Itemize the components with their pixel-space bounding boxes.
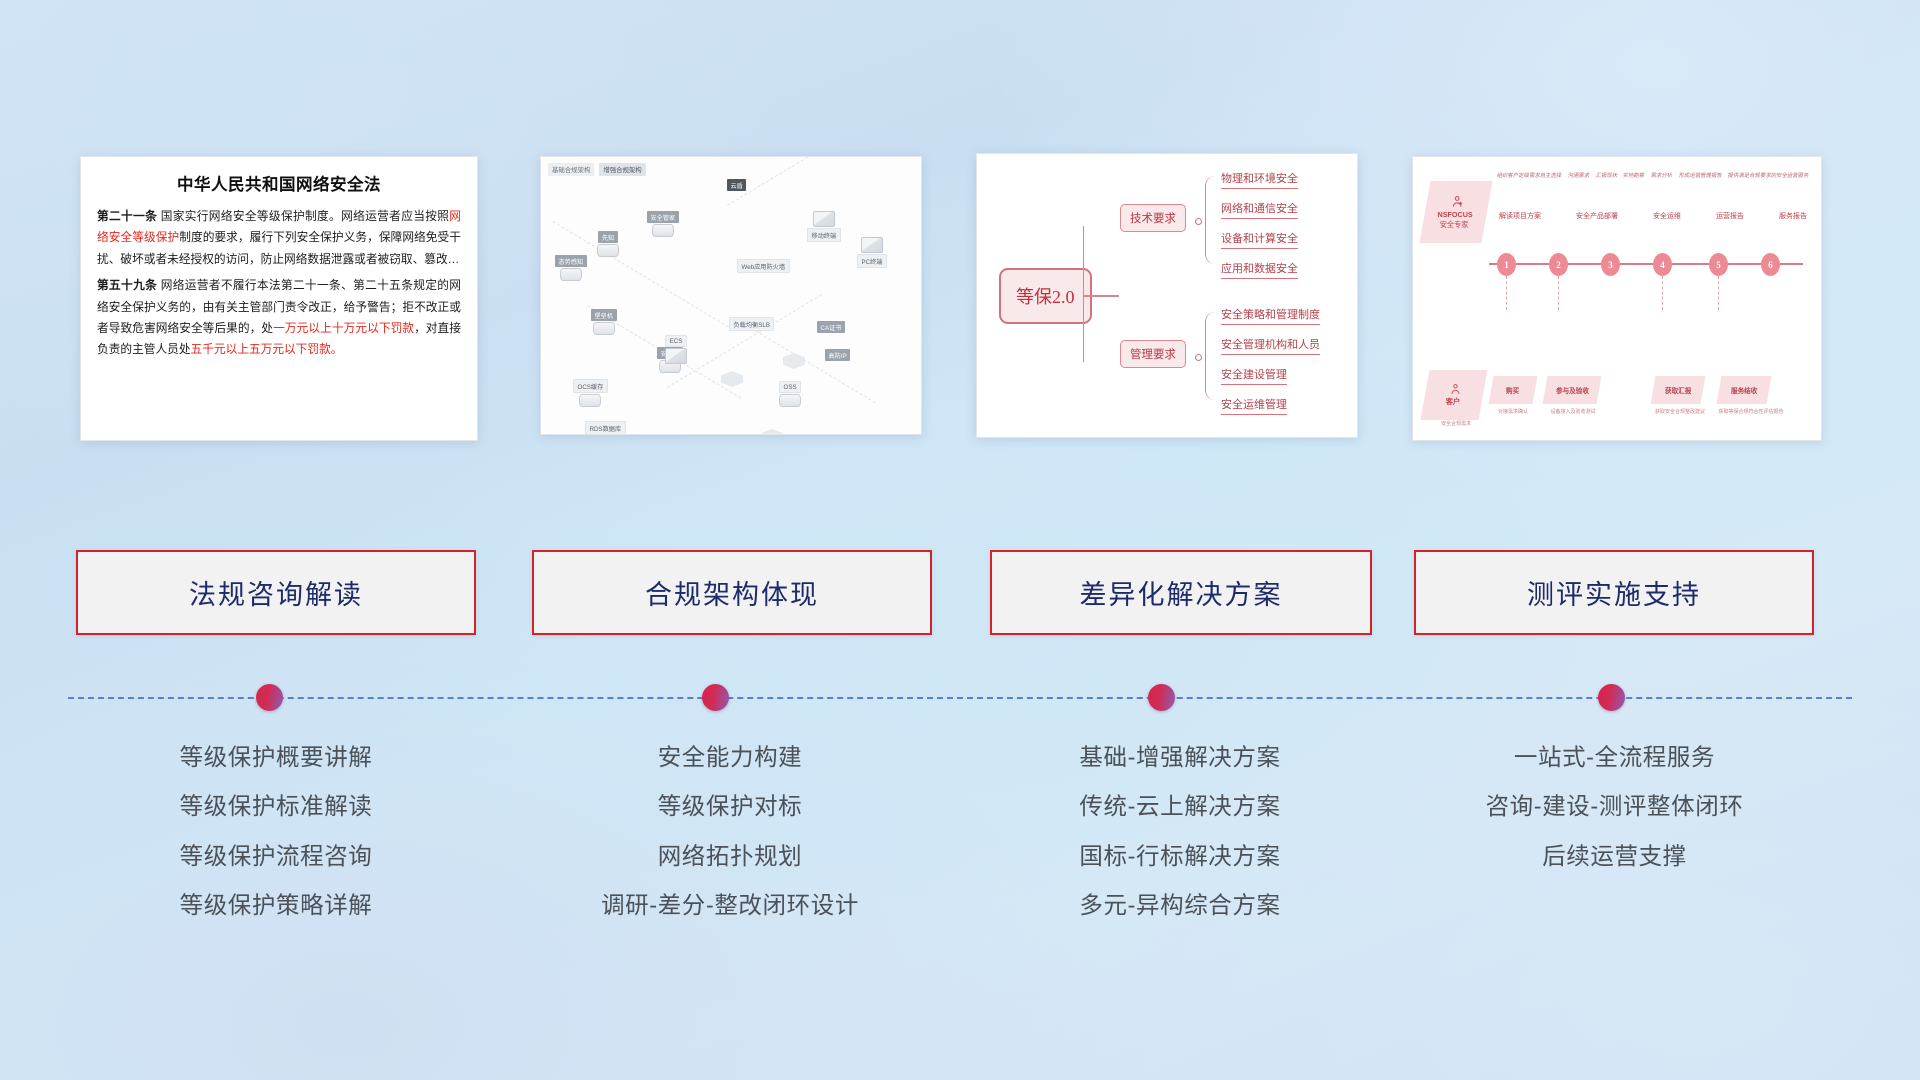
- list-item: 国标-行标解决方案: [980, 839, 1380, 874]
- list-item: 调研-差分-整改闭环设计: [530, 888, 930, 923]
- footer-item-label: 购买: [1506, 385, 1519, 395]
- arch-node-xianzhi: 先知: [597, 231, 619, 257]
- footer-item-caption: 设备接入及验收测试: [1539, 408, 1607, 415]
- mindmap-leaf: 设备和计算安全: [1221, 230, 1298, 249]
- mindmap-connector: [1205, 312, 1219, 400]
- mindmap-leaf: 应用和数据安全: [1221, 260, 1298, 279]
- card-mindmap-screenshot: 等保2.0 技术要求 物理和环境安全 网络和通信安全 设备和计算安全 应用和数据…: [976, 153, 1358, 438]
- arch-node-ecs-group: [721, 371, 743, 387]
- footer-item-box: 获取汇报: [1651, 376, 1706, 404]
- phase-label: 安全产品部署: [1576, 211, 1618, 221]
- banner-compliance-architecture[interactable]: 合规架构体现: [532, 550, 932, 635]
- mindmap-leaf: 安全策略和管理制度: [1221, 306, 1320, 325]
- nsfocus-tick: [1506, 276, 1507, 310]
- banner-assessment-support[interactable]: 测评实施支持: [1414, 550, 1814, 635]
- timeline-dashed-line: [68, 697, 1852, 699]
- mindmap-connector: [1083, 296, 1119, 362]
- architecture-diagram: 基础合规架构 增强合规架构 云盾 安全管家 先知 态势感知: [541, 157, 921, 434]
- arch-node-ecs: ECS: [665, 335, 687, 364]
- article-59-highlight-2: 五千元以上五万元以下罚款。: [191, 343, 343, 356]
- list-item: 一站式-全流程服务: [1412, 740, 1817, 775]
- nsfocus-step: 5: [1709, 253, 1728, 276]
- arch-node-pc: PC终端: [857, 237, 887, 268]
- list-item: 传统-云上解决方案: [980, 789, 1380, 824]
- banner-label: 差异化解决方案: [1080, 573, 1283, 612]
- mindmap-root: 等保2.0: [999, 268, 1092, 324]
- list-regulation-consulting: 等级保护概要讲解 等级保护标准解读 等级保护流程咨询 等级保护策略详解: [76, 740, 476, 923]
- timeline-dot-1[interactable]: [256, 684, 283, 711]
- nsfocus-step: 4: [1653, 253, 1672, 276]
- arch-node-oss: OSS: [779, 381, 801, 407]
- arch-node-ecs-group: [783, 353, 805, 369]
- article-21-label: 第二十一条: [97, 210, 157, 223]
- guide-line: [727, 156, 890, 206]
- nsfocus-tick: [1662, 276, 1663, 310]
- list-compliance-architecture: 安全能力构建 等级保护对标 网络拓扑规划 调研-差分-整改闭环设计: [530, 740, 930, 923]
- list-item: 等级保护策略详解: [76, 888, 476, 923]
- footer-item-label: 获取汇报: [1665, 385, 1691, 395]
- nsfocus-service-flow: NSFOCUS 安全专家 组织客户定级需求自主选择 沟通需求 汇报现状 实地勘察…: [1413, 157, 1821, 440]
- footer-item-box: 购买: [1489, 376, 1538, 404]
- law-document: 中华人民共和国网络安全法 第二十一条 国家实行网络安全等级保护制度。网络运营者应…: [81, 157, 477, 376]
- nsfocus-step: 3: [1601, 253, 1620, 276]
- top-caption: 实地勘察: [1623, 171, 1646, 179]
- article-59-highlight-1: 一万元以上十万元以下罚款: [273, 322, 414, 335]
- nsfocus-step: 1: [1497, 253, 1516, 276]
- mindmap-leaf: 物理和环境安全: [1221, 170, 1298, 189]
- law-article-59: 第五十九条 网络运营者不履行本法第二十一条、第二十五条规定的网络安全保护义务的，…: [97, 275, 461, 361]
- mindmap-collapse-dot[interactable]: [1195, 218, 1202, 225]
- nsfocus-phase-labels: 解读项目方案 安全产品部署 安全运维 运营报告 服务报告: [1499, 211, 1807, 221]
- list-assessment-support: 一站式-全流程服务 咨询-建设-测评整体闭环 后续运营支撑: [1412, 740, 1817, 874]
- banner-label: 测评实施支持: [1527, 573, 1701, 612]
- list-item: 多元-异构综合方案: [980, 888, 1380, 923]
- footer-item-box: 服务结收: [1717, 376, 1772, 404]
- footer-item-caption: 获取安全合规整改建议: [1643, 408, 1717, 415]
- nsfocus-step: 6: [1761, 253, 1780, 276]
- card-nsfocus-screenshot: NSFOCUS 安全专家 组织客户定级需求自主选择 沟通需求 汇报现状 实地勘察…: [1412, 156, 1822, 441]
- mindmap-branch-technical: 技术要求: [1120, 204, 1186, 232]
- arch-node-mobile: 移动终端: [807, 211, 841, 242]
- nsfocus-badge-role: 安全专家: [1439, 220, 1468, 230]
- arch-node-slb: 负载均衡SLB: [729, 317, 774, 331]
- arch-node-vpc: VPC: [761, 429, 783, 435]
- list-item: 网络拓扑规划: [530, 839, 930, 874]
- banner-label: 合规架构体现: [645, 573, 819, 612]
- nsfocus-tick: [1558, 276, 1559, 310]
- list-item: 咨询-建设-测评整体闭环: [1412, 789, 1817, 824]
- timeline-dot-2[interactable]: [702, 684, 729, 711]
- nsfocus-top-captions: 组织客户定级需求自主选择 沟通需求 汇报现状 实地勘察 需求分析 形成运营管理报…: [1497, 171, 1809, 179]
- list-item: 等级保护对标: [530, 789, 930, 824]
- article-59-label: 第五十九条: [97, 279, 157, 292]
- architecture-canvas: 云盾 安全管家 先知 态势感知 堡垒机 安骑士 OCS缓存 RDS数据库 数据库…: [547, 175, 915, 428]
- banner-regulation-consulting[interactable]: 法规咨询解读: [76, 550, 476, 635]
- person-check-icon: [1448, 383, 1461, 396]
- mindmap-connector: [1083, 226, 1119, 296]
- slide-canvas: 中华人民共和国网络安全法 第二十一条 国家实行网络安全等级保护制度。网络运营者应…: [0, 0, 1920, 1080]
- mindmap-collapse-dot[interactable]: [1195, 354, 1202, 361]
- arch-node-rds: RDS数据库: [585, 421, 626, 435]
- mindmap-diagram: 等保2.0 技术要求 物理和环境安全 网络和通信安全 设备和计算安全 应用和数据…: [977, 154, 1357, 437]
- nsfocus-step: 2: [1549, 253, 1568, 276]
- nsfocus-tick: [1718, 276, 1719, 310]
- arch-node-baolei: 堡垒机: [591, 309, 617, 335]
- phase-label: 解读项目方案: [1499, 211, 1541, 221]
- nsfocus-customer-badge: 客户: [1421, 370, 1488, 420]
- top-caption: 需求分析: [1651, 171, 1674, 179]
- phase-label: 安全运维: [1653, 211, 1681, 221]
- article-21-text-a: 国家实行网络安全等级保护制度。网络运营者应当按照: [157, 210, 449, 223]
- timeline-dot-3[interactable]: [1148, 684, 1175, 711]
- arch-node-waf: Web应用防火墙: [737, 259, 790, 273]
- top-caption: 形成运营管理报告: [1678, 171, 1722, 179]
- arch-node-ocs: OCS缓存: [573, 379, 608, 407]
- arch-node-yundun: 云盾: [727, 179, 746, 191]
- mindmap-leaf: 安全运维管理: [1221, 396, 1287, 415]
- nsfocus-footer: 客户 安全合规需求 购买 对接需求确认 参与及验收 设备接入及验收测试 获取汇报…: [1425, 370, 1809, 428]
- nsfocus-expert-badge: NSFOCUS 安全专家: [1420, 181, 1493, 243]
- list-item: 等级保护标准解读: [76, 789, 476, 824]
- mindmap-branch-management: 管理要求: [1120, 340, 1186, 368]
- footer-item-label: 服务结收: [1731, 385, 1757, 395]
- timeline-dot-4[interactable]: [1598, 684, 1625, 711]
- mindmap-leaf: 安全管理机构和人员: [1221, 336, 1320, 355]
- arch-node-anquan-guanjia: 安全管家: [647, 211, 679, 237]
- list-item: 等级保护流程咨询: [76, 839, 476, 874]
- list-item: 后续运营支撑: [1412, 839, 1817, 874]
- footer-item-caption: 对接需求确认: [1485, 408, 1541, 415]
- arch-node-taishi-ganzhi: 态势感知: [555, 255, 587, 281]
- person-star-icon: [1451, 195, 1465, 209]
- customer-label: 客户: [1446, 397, 1460, 407]
- law-title: 中华人民共和国网络安全法: [97, 171, 461, 195]
- arch-node-gaofang-ip: 高防IP: [825, 349, 850, 361]
- guide-line: [746, 325, 875, 403]
- phase-label: 运营报告: [1716, 211, 1744, 221]
- guide-line: [667, 294, 822, 388]
- nsfocus-axis-line: [1489, 263, 1803, 265]
- list-differentiated-solutions: 基础-增强解决方案 传统-云上解决方案 国标-行标解决方案 多元-异构综合方案: [980, 740, 1380, 923]
- banner-label: 法规咨询解读: [189, 573, 363, 612]
- top-caption: 沟通需求: [1567, 171, 1590, 179]
- law-article-21: 第二十一条 国家实行网络安全等级保护制度。网络运营者应当按照网络安全等级保护制度…: [97, 206, 461, 270]
- phase-label: 服务报告: [1779, 211, 1807, 221]
- list-item: 基础-增强解决方案: [980, 740, 1380, 775]
- footer-item-box: 参与及验收: [1543, 376, 1602, 404]
- mindmap-leaf: 网络和通信安全: [1221, 200, 1298, 219]
- list-item: 安全能力构建: [530, 740, 930, 775]
- footer-item-label: 参与及验收: [1556, 385, 1589, 395]
- nsfocus-badge-name: NSFOCUS: [1438, 210, 1473, 219]
- footer-item-caption: 获取等保合规符合性评估报告: [1711, 408, 1791, 415]
- card-architecture-screenshot: 基础合规架构 增强合规架构 云盾 安全管家 先知 态势感知: [540, 156, 922, 435]
- customer-caption: 安全合规需求: [1427, 420, 1485, 427]
- arch-node-ca-cert: CA证书: [817, 321, 845, 333]
- top-caption: 汇报现状: [1595, 171, 1618, 179]
- mindmap-connector: [1205, 176, 1219, 264]
- card-law-screenshot: 中华人民共和国网络安全法 第二十一条 国家实行网络安全等级保护制度。网络运营者应…: [80, 156, 478, 441]
- banner-differentiated-solutions[interactable]: 差异化解决方案: [990, 550, 1372, 635]
- list-item: 等级保护概要讲解: [76, 740, 476, 775]
- top-caption: 组织客户定级需求自主选择: [1496, 171, 1562, 179]
- nsfocus-flow-canvas: NSFOCUS 安全专家 组织客户定级需求自主选择 沟通需求 汇报现状 实地勘察…: [1425, 167, 1809, 430]
- mindmap-leaf: 安全建设管理: [1221, 366, 1287, 385]
- top-caption: 提供满足合规要求的安全运营服务: [1728, 171, 1810, 179]
